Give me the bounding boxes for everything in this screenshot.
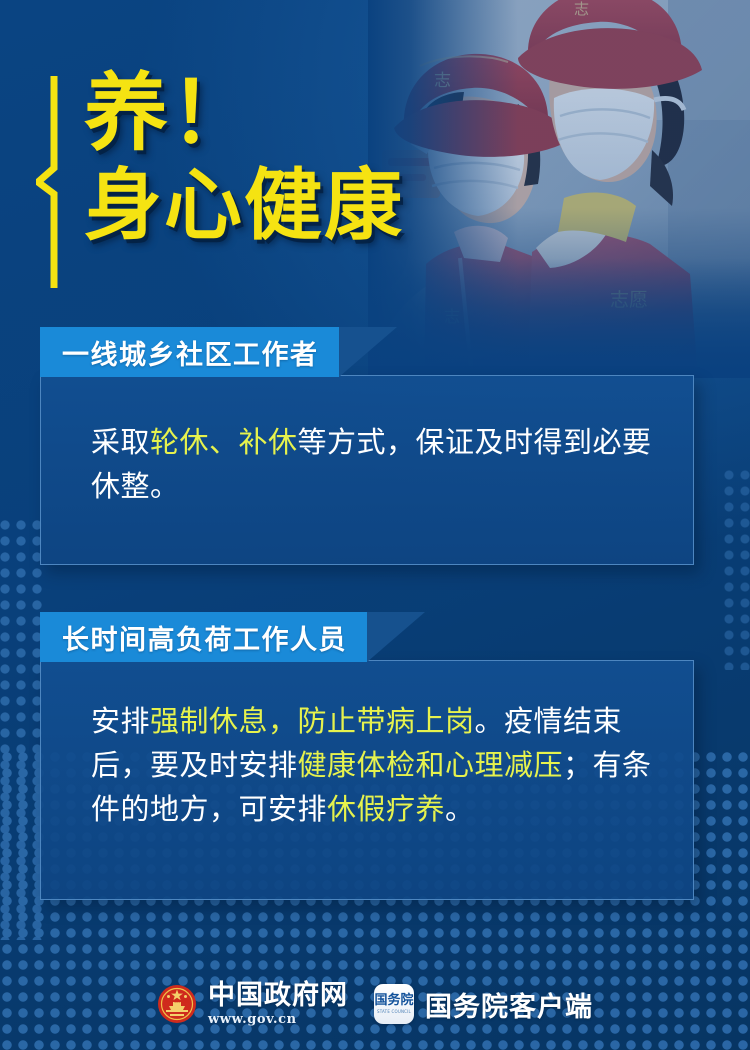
- card-2-seg-0: 安排: [91, 704, 150, 738]
- gov-site-url: www.gov.cn: [208, 1013, 348, 1026]
- app-icon-sublabel: STATE COUNCIL: [377, 1009, 411, 1014]
- dot-pattern-right: [724, 470, 750, 670]
- info-card-2: 长时间高负荷工作人员 安排强制休息，防止带病上岗。疫情结束后，要及时安排健康体检…: [40, 612, 694, 900]
- card-2-badge-label: 长时间高负荷工作人员: [62, 618, 347, 657]
- gov-site-name: 中国政府网: [208, 982, 348, 1009]
- footer: 中华人民共和国 中国政府网 www.gov.cn 国务院 STATE COUNC…: [0, 982, 750, 1026]
- card-1-body: 采取轮休、补休等方式，保证及时得到必要休整。: [40, 375, 694, 565]
- card-1-badge-label: 一线城乡社区工作者: [62, 333, 319, 372]
- card-2-seg-6: 。: [445, 792, 475, 826]
- card-2-badge: 长时间高负荷工作人员: [40, 612, 367, 662]
- poster-title: 养！ 身心健康: [36, 72, 456, 245]
- poster-root: 志: [0, 0, 750, 1050]
- vertical-bracket-icon: [36, 76, 62, 288]
- app-icon-label: 国务院: [374, 994, 413, 1007]
- card-2-text: 安排强制休息，防止带病上岗。疫情结束后，要及时安排健康体检和心理减压；有条件的地…: [91, 699, 667, 831]
- card-2-seg-1-highlight: 强制休息，防止带病上岗: [150, 704, 475, 738]
- svg-text:中华人民共和国: 中华人民共和国: [165, 999, 189, 1004]
- state-council-app-icon: 国务院 STATE COUNCIL: [374, 984, 414, 1024]
- card-1-seg-1-highlight: 轮休、补休: [150, 425, 298, 459]
- card-2-seg-3-highlight: 健康体检和心理减压: [298, 748, 564, 782]
- card-1-text: 采取轮休、补休等方式，保证及时得到必要休整。: [91, 420, 667, 508]
- gov-website-brand[interactable]: 中华人民共和国 中国政府网 www.gov.cn: [157, 982, 348, 1026]
- card-1-badge-tab: [339, 327, 411, 377]
- china-national-emblem-icon: 中华人民共和国: [157, 984, 197, 1024]
- card-1-seg-0: 采取: [91, 425, 150, 459]
- title-line-2: 身心健康: [84, 168, 456, 244]
- info-card-1: 一线城乡社区工作者 采取轮休、补休等方式，保证及时得到必要休整。: [40, 327, 694, 565]
- title-line-1: 养！: [84, 72, 456, 154]
- card-2-seg-5-highlight: 休假疗养: [327, 792, 445, 826]
- card-1-badge: 一线城乡社区工作者: [40, 327, 339, 377]
- app-name-label: 国务院客户端: [425, 985, 593, 1024]
- card-2-badge-tab: [367, 612, 439, 662]
- card-2-body: 安排强制休息，防止带病上岗。疫情结束后，要及时安排健康体检和心理减压；有条件的地…: [40, 660, 694, 900]
- state-council-app-brand[interactable]: 国务院 STATE COUNCIL 国务院客户端: [374, 984, 593, 1024]
